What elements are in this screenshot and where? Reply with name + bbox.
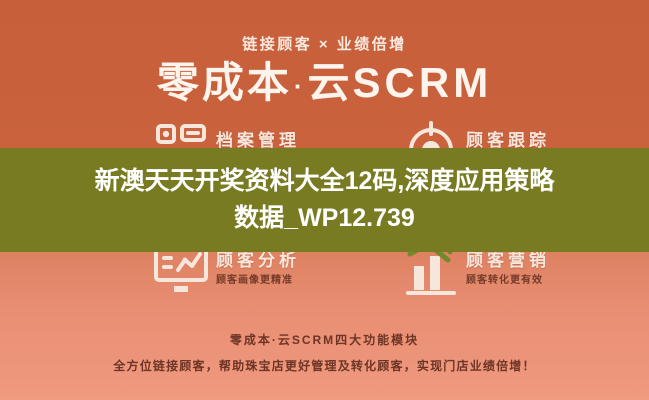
feature-text-customer-analysis: 顾客分析 顾客画像更精准 bbox=[216, 250, 300, 288]
poster-image: 链接顾客 × 业绩倍增 零成本·云SCRM 档案管理 顾客信息更全位 bbox=[0, 0, 649, 400]
feature-title: 顾客分析 bbox=[216, 250, 300, 271]
feature-title: 顾客营销 bbox=[466, 250, 550, 271]
feature-subtitle: 顾客画像更精准 bbox=[216, 274, 300, 288]
feature-subtitle: 顾客转化更有效 bbox=[466, 274, 550, 288]
headline-line-1: 新澳天天开奖资料大全12码,深度应用策略 bbox=[95, 163, 555, 200]
poster-kicker: 链接顾客 × 业绩倍增 bbox=[0, 33, 649, 54]
poster-brand-title: 零成本·云SCRM bbox=[0, 58, 649, 111]
brand-cn-1: 零成本 bbox=[157, 59, 292, 106]
headline-overlay-text: 新澳天天开奖资料大全12码,深度应用策略 数据_WP12.739 bbox=[0, 148, 649, 252]
feature-text-customer-marketing: 顾客营销 顾客转化更有效 bbox=[466, 250, 550, 288]
brand-separator-dot: · bbox=[292, 71, 308, 101]
poster-caption-secondary: 全方位链接顾客，帮助珠宝店更好管理及转化顾客，实现门店业绩倍增！ bbox=[0, 357, 649, 374]
poster-caption-primary: 零成本·云SCRM四大功能模块 bbox=[0, 331, 649, 348]
headline-line-2: 数据_WP12.739 bbox=[234, 200, 415, 237]
brand-cn-2: 云 bbox=[308, 59, 353, 106]
brand-latin: SCRM bbox=[353, 59, 493, 106]
